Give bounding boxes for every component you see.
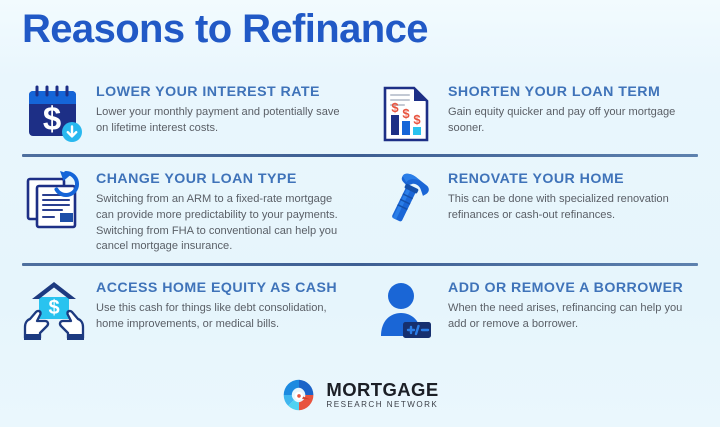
- reason-item-lower-your-interest-rate: $ LOWER YOUR INTEREST RATE Lower your mo…: [0, 74, 360, 154]
- person-add-remove-icon: [374, 278, 438, 342]
- reason-heading: ADD OR REMOVE A BORROWER: [448, 280, 702, 297]
- infographic-root: Reasons to Refinance: [0, 0, 720, 427]
- reason-item-renovate-your-home: RENOVATE YOUR HOME This can be done with…: [360, 157, 720, 263]
- svg-text:$: $: [391, 100, 399, 115]
- svg-text:$: $: [48, 297, 59, 319]
- footer: MORTGAGE RESEARCH NETWORK: [0, 377, 720, 413]
- reason-heading: ACCESS HOME EQUITY AS CASH: [96, 280, 346, 297]
- logo-secondary-text: RESEARCH NETWORK: [326, 401, 438, 409]
- reason-body: Switching from an ARM to a fixed-rate mo…: [96, 192, 343, 255]
- page-title: Reasons to Refinance: [22, 6, 428, 52]
- brand-logo: MORTGAGE RESEARCH NETWORK: [281, 377, 438, 413]
- reason-body: Lower your monthly payment and potential…: [96, 105, 343, 137]
- reason-heading: RENOVATE YOUR HOME: [448, 171, 702, 188]
- reason-body: Gain equity quicker and pay off your mor…: [448, 105, 691, 137]
- reason-heading: CHANGE YOUR LOAN TYPE: [96, 171, 346, 188]
- reason-item-shorten-your-loan-term: $ $ $ SHORTEN YOUR LOAN TERM Gain equity…: [360, 74, 720, 154]
- reason-heading: LOWER YOUR INTEREST RATE: [96, 84, 346, 101]
- reason-body: Use this cash for things like debt conso…: [96, 301, 343, 333]
- reasons-grid: $ LOWER YOUR INTEREST RATE Lower your mo…: [0, 74, 720, 350]
- document-bar-chart-dollar-icon: $ $ $: [374, 82, 438, 146]
- calendar-dollar-down-icon: $: [22, 82, 86, 146]
- svg-text:$: $: [43, 100, 61, 137]
- gauge-speedometer-icon: [281, 377, 317, 413]
- logo-primary-text: MORTGAGE: [326, 381, 438, 400]
- svg-text:$: $: [413, 112, 421, 127]
- reason-item-change-your-loan-type: CHANGE YOUR LOAN TYPE Switching from an …: [0, 157, 360, 263]
- reasons-row-2: CHANGE YOUR LOAN TYPE Switching from an …: [0, 157, 720, 263]
- reason-item-add-or-remove-a-borrower: ADD OR REMOVE A BORROWER When the need a…: [360, 266, 720, 350]
- stacked-documents-swap-icon: [22, 169, 86, 233]
- reason-body: This can be done with specialized renova…: [448, 192, 691, 224]
- reasons-row-3: $ ACCESS HOME EQUITY AS CASH Use this ca…: [0, 266, 720, 350]
- reasons-row-1: $ LOWER YOUR INTEREST RATE Lower your mo…: [0, 74, 720, 154]
- reason-body: When the need arises, refinancing can he…: [448, 301, 691, 333]
- svg-text:$: $: [402, 106, 410, 121]
- hammer-icon: [374, 169, 438, 233]
- house-dollar-in-hands-icon: $: [22, 278, 86, 342]
- reason-item-access-home-equity-as-cash: $ ACCESS HOME EQUITY AS CASH Use this ca…: [0, 266, 360, 350]
- reason-heading: SHORTEN YOUR LOAN TERM: [448, 84, 702, 101]
